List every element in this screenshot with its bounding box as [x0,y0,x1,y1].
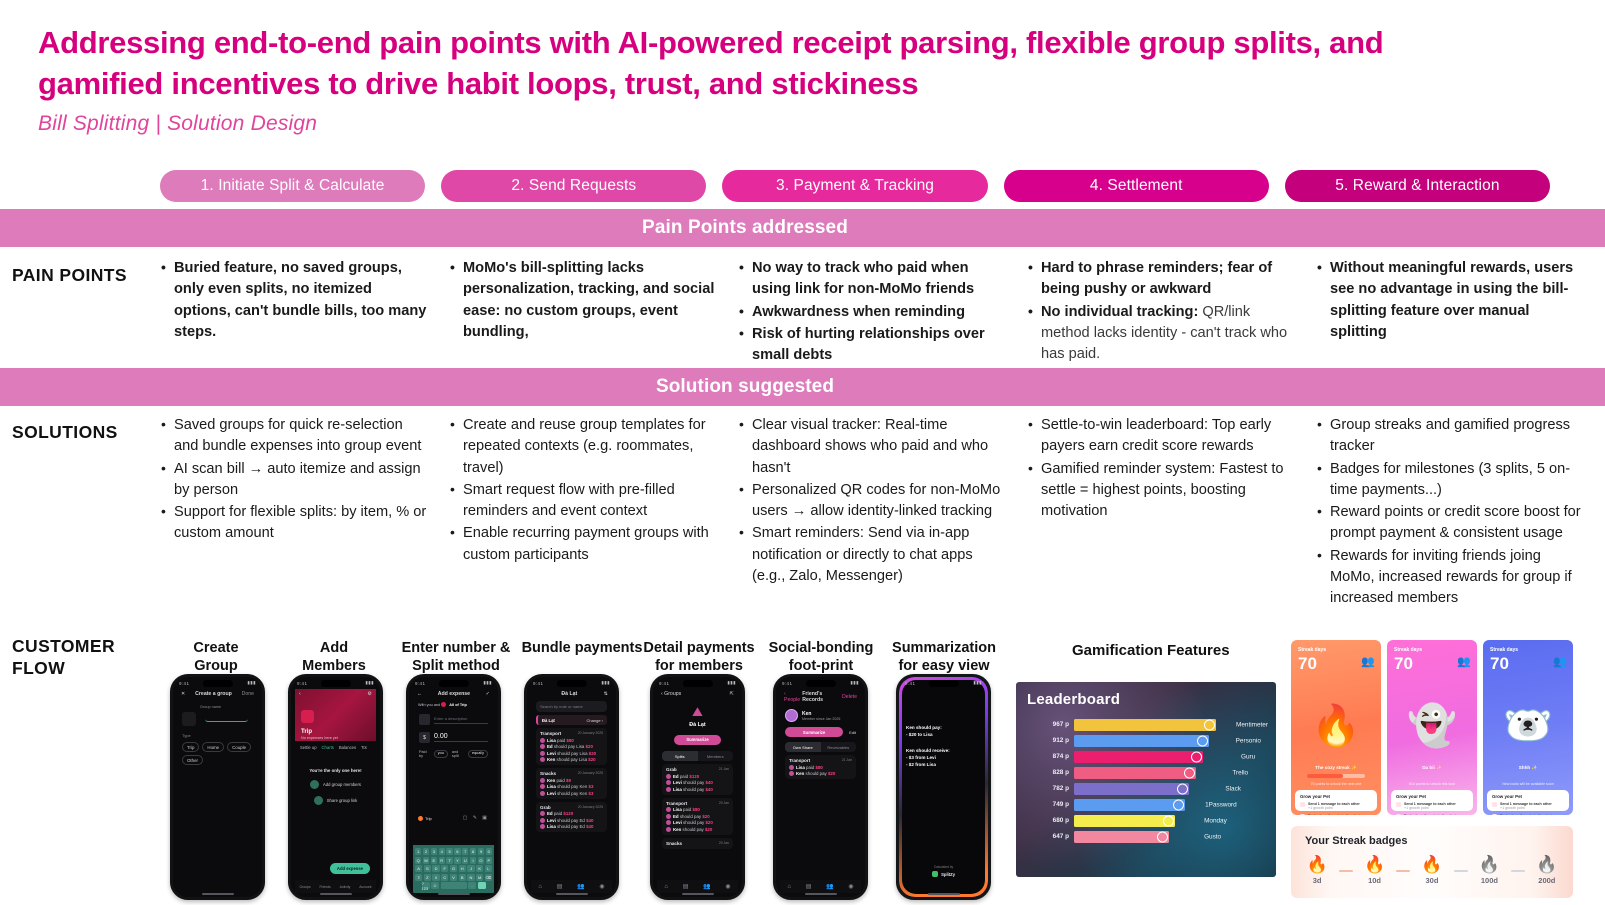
phone-statusbar: 9:41▮▮▮ [905,679,982,687]
expense-row: Ken should pay Lisa $20 [540,757,603,762]
expense-card[interactable]: Snacks20 Jan [662,838,733,849]
screen3-desc-row: Enter a description [419,714,488,725]
solution-item: Saved groups for quick re-selection and … [160,415,431,458]
expense-card-header: Snacks20 January 2025 [540,771,603,776]
phone-social-bonding[interactable]: 9:41▮▮▮ ‹ People Friend's Records Delete… [773,674,868,900]
task-check-icon [1396,814,1401,815]
screen2-action[interactable]: Add group members [295,780,376,789]
leaderboard-points: 680 p [1016,817,1074,824]
flame-icon: 🔥 [1479,856,1500,873]
flow-caption-line2: Group [160,658,272,676]
segment-tab-splits[interactable]: Splits [662,751,698,761]
expense-row: Ken should pay $20 [666,827,729,832]
screen6-tabbar[interactable]: ⌂ ▤ 👥 ◉ [780,880,861,893]
key-7[interactable]: 7 [462,848,468,855]
streak-days-value: 70 [1298,654,1317,674]
type-chip[interactable]: Other [182,755,203,765]
phone-create-group[interactable]: 9:41▮▮▮ ✕ Create a group Done Group name… [170,674,265,900]
key-S[interactable]: S [424,865,431,872]
pain-points-list: MoMo's bill-splitting lacks personalizat… [449,258,720,343]
flow-caption-summarization: Summarization for easy view [884,640,1004,675]
solution-item: Smart request flow with pre-filled remin… [449,480,720,523]
on-screen-keyboard[interactable]: 1234567890QWERTYUIOPASDFGHJKL⇧ZXCVBNM⌫?1… [413,845,494,894]
add-expense-button[interactable]: Add expense [330,863,370,874]
streak-card-1[interactable]: Streak days70👥🔥The cozy streak ✨70 point… [1291,640,1381,815]
stage-pill-4[interactable]: 4. Settlement [1004,170,1269,202]
leaderboard-bar: Slack [1074,783,1189,795]
expense-row: Ed paid $120 [540,811,603,816]
nav-tab-activity[interactable]: Activity [340,885,351,889]
leaderboard-avatar [1157,831,1168,842]
expense-row: Ed should pay Lisa $20 [540,744,603,749]
leaderboard-avatar [1191,751,1202,762]
key-A[interactable]: A [415,865,422,872]
screen4-toolbar: Đà Lạt ⇅ [531,689,612,699]
nav-home-icon[interactable]: ⌂ [787,884,791,890]
screen6-actions: Summarize Edit [785,727,856,737]
home-indicator [681,893,713,895]
screen2-actions: Add group membersShare group link [295,780,376,805]
pain-point-item: No individual tracking: QR/link method l… [1027,302,1298,366]
group-name-input[interactable] [205,713,248,722]
leaderboard-row: 647 pGusto [1016,830,1276,844]
image-icon[interactable] [182,712,196,726]
key-Q[interactable]: Q [415,857,421,864]
gear-icon[interactable]: ⚙ [367,691,372,697]
key-K[interactable]: K [476,865,483,872]
pain-point-item: Risk of hurting relationships over small… [738,324,1009,367]
screen5-tabbar[interactable]: ⌂ ▤ 👥 ◉ [657,880,738,893]
screen7-receive-block: Ken should receive: - $3 from Levi - $2 … [906,748,981,769]
nav-tab-groups[interactable]: Groups [299,885,310,889]
key-8[interactable]: 8 [470,848,476,855]
key-R[interactable]: R [439,857,445,864]
nav-group-icon[interactable]: 👥 [577,883,584,890]
done-button[interactable]: Done [242,691,254,697]
streak-task-label: Send 1 message to each other+1 growth po… [1404,802,1456,811]
key-⇧[interactable]: ⇧ [415,874,422,881]
paidby-token[interactable]: you [434,750,448,758]
segment-tab-receivables[interactable]: Receivables [821,742,857,752]
streak-task-label: Each share 2 posts in the chat+2 growth … [1500,814,1552,815]
pain-points-column-2: MoMo's bill-splitting lacks personalizat… [449,258,738,367]
streak-caption: Da bii ✨ [1387,765,1477,771]
stage-pill-5[interactable]: 5. Reward & Interaction [1285,170,1550,202]
back-icon[interactable]: ‹ [299,691,301,697]
expense-card[interactable]: Transport20 January 2025Lisa paid $80Ed … [536,728,607,765]
flow-caption-line1: Enter number & [392,640,520,658]
task-check-icon [1492,814,1497,815]
currency-icon: $ [419,732,430,743]
key-M[interactable]: M [476,874,483,881]
screen5-toolbar: ‹ Groups ⇱ [657,689,738,699]
solutions-list: Settle-to-win leaderboard: Top early pay… [1027,415,1298,522]
key-W[interactable]: W [423,857,429,864]
solution-item: Group streaks and gamified progress trac… [1316,415,1587,458]
leaderboard-avatar [1184,767,1195,778]
expense-row: Ed paid $120 [666,774,729,779]
nav-tab-account[interactable]: Account [359,885,371,889]
key-⌫[interactable]: ⌫ [485,874,492,881]
home-indicator [555,893,587,895]
streak-task: Each share 2 posts in the chat+2 growth … [1492,814,1564,815]
flow-caption-add-members: Add Members [278,640,390,675]
streak-sheet-title: Grow your Pet [1396,794,1468,799]
key-6[interactable]: 6 [454,848,460,855]
leaderboard-points: 874 p [1016,753,1074,760]
nav-list-icon[interactable]: ▤ [683,883,689,890]
screen4-sections: Transport20 January 2025Lisa paid $80Ed … [531,728,612,832]
nav-list-icon[interactable]: ▤ [557,883,563,890]
stage-pill-3[interactable]: 3. Payment & Tracking [722,170,987,202]
key-?123[interactable]: ?123 [422,882,430,889]
solution-item: Badges for milestones (3 splits, 5 on-ti… [1316,459,1587,502]
edit-button[interactable]: Edit [849,730,856,735]
key-O[interactable]: O [478,857,484,864]
nav-tab-friends[interactable]: Friends [319,885,330,889]
nav-home-icon[interactable]: ⌂ [664,884,668,890]
phone-add-expense[interactable]: 9:41▮▮▮ ← Add expense ✓ With you and All… [406,674,501,900]
phone-statusbar: 9:41▮▮▮ [659,679,736,687]
solution-item: AI scan bill → auto itemize and assign b… [160,459,431,502]
key-space[interactable] [441,882,467,889]
screen4-title: Đà Lạt [561,691,577,697]
badge-label: 100d [1479,876,1500,885]
home-indicator [804,893,836,895]
streak-days-label: Streak days [1298,647,1326,653]
phone-screen: ‹ Groups ⇱ ⛰ Đà Lạt Summarize SplitsMemb… [657,689,738,893]
sort-icon[interactable]: ⇅ [604,691,608,697]
pain-point-item: MoMo's bill-splitting lacks personalizat… [449,258,720,343]
streak-badge[interactable]: 🔥100d [1479,856,1500,885]
key-V[interactable]: V [450,874,457,881]
key-5[interactable]: 5 [446,848,452,855]
key-U[interactable]: U [462,857,468,864]
expense-name: Transport [789,758,810,763]
key-0[interactable]: 0 [486,848,492,855]
key-J[interactable]: J [467,865,474,872]
streak-cards: Streak days70👥🔥The cozy streak ✨70 point… [1291,640,1573,815]
expense-card[interactable]: Grab20 January 2025Ed paid $120Levi shou… [536,802,607,833]
streak-badge[interactable]: 🔥3d [1307,856,1328,885]
solutions-list: Group streaks and gamified progress trac… [1316,415,1587,610]
nav-group-icon[interactable]: 👥 [826,883,833,890]
streak-badges-panel: Your Streak badges 🔥3d🔥10d🔥30d🔥100d🔥200d [1291,826,1573,898]
flow-caption-line2: Split method [392,658,520,676]
screen7-receive-title: Ken should receive: [906,748,981,755]
home-indicator [437,893,469,895]
streak-badge[interactable]: 🔥200d [1536,856,1557,885]
streak-sheet-title: Grow your Pet [1492,794,1564,799]
expense-row: Lisa paid $80 [540,738,603,743]
screen4-tabbar[interactable]: ⌂ ▤ 👥 ◉ [531,880,612,893]
paidby-token[interactable]: and split [452,750,464,758]
screen5-tabs[interactable]: SplitsMembers [662,751,733,761]
streak-card-3[interactable]: Streak days70👥🐻‍❄️Shhh ✨New looks will b… [1483,640,1573,815]
streak-pet-icon: 👻 [1407,702,1457,749]
back-icon[interactable]: ‹ Groups [661,691,681,697]
type-chip[interactable]: Home [202,742,224,752]
task-check-icon [1300,802,1305,807]
phone-summarization[interactable]: 9:41▮▮▮ Ken should pay: - $20 to Lisa Ke… [896,674,991,900]
change-button[interactable]: Change › [587,718,603,723]
leaderboard-bar: Monday [1074,815,1175,827]
band-pain-points: Pain Points addressed [0,209,1605,247]
phone-add-members[interactable]: 9:41▮▮▮ ‹ ⚙ Trip No expenses here yet Se… [288,674,383,900]
amount-input[interactable]: 0.00 [434,733,488,742]
pain-point-item: Hard to phrase reminders; fear of being … [1027,258,1298,301]
screen2-action[interactable]: Share group link [295,796,376,805]
expense-card[interactable]: Snacks20 January 2025Ken paid $9Lisa sho… [536,768,607,799]
screen1-title: Create a group [195,691,232,697]
pain-points-column-4: Hard to phrase reminders; fear of being … [1027,258,1316,367]
streak-task: Send 1 message to each other+1 growth po… [1300,802,1372,811]
key-G[interactable]: G [450,865,457,872]
group-avatar [301,710,314,723]
back-icon[interactable]: ← [417,691,422,697]
screen3-amount-row: $ 0.00 [419,732,488,743]
expense-date: 20 January 2025 [578,805,603,810]
paidby-token[interactable]: Paid by [419,750,430,758]
expense-card-header: Transport20 January 2025 [540,731,603,736]
key-N[interactable]: N [467,874,474,881]
flow-caption-detail-payments: Detail payments for members [640,640,758,675]
home-indicator [319,893,351,895]
nav-list-icon[interactable]: ▤ [806,883,812,890]
home-indicator [927,893,959,895]
leaderboard-row: 828 pTrello [1016,766,1276,780]
phone-bundle-payments[interactable]: 9:41▮▮▮ Đà Lạt ⇅ Search by note or name … [524,674,619,900]
solutions-column-2: Create and reuse group templates for rep… [449,415,738,611]
screen7-receive-line: - $3 from Levi [906,755,981,762]
flow-caption-line1: Summarization [884,640,1004,658]
phone-detail-payments[interactable]: 9:41▮▮▮ ‹ Groups ⇱ ⛰ Đà Lạt Summarize Sp… [650,674,745,900]
summarize-button[interactable]: Summarize [785,727,843,737]
screen1-field-label: Group name [200,705,253,709]
screen7-receive-line: - $2 from Lisa [906,762,981,769]
streak-progress [1307,774,1365,778]
expense-row: Lisa paid $80 [666,807,729,812]
expense-name: Snacks [666,841,682,846]
flow-caption-create-group: Create Group [160,640,272,675]
screen7-footer-brand: SplitZy [941,872,955,877]
key-X[interactable]: X [432,874,439,881]
expense-row: Levi should pay Lisa $20 [540,751,603,756]
streak-task-sub: +1 growth point [1404,806,1456,810]
key-E[interactable]: E [431,857,437,864]
badge-label: 3d [1307,876,1328,885]
key-P[interactable]: P [486,857,492,864]
leaderboard-avatar [1197,735,1208,746]
flow-caption-social-bonding: Social-bonding foot-print [762,640,880,675]
leaderboard-panel: Leaderboard 967 pMentimeter912 pPersonio… [1016,682,1276,877]
expense-card[interactable]: Grab21 JanEd paid $120Levi should pay $4… [662,764,733,795]
screen3-title: Add expense [438,691,470,697]
leaderboard-points: 782 p [1016,785,1074,792]
streak-task-sheet: Grow your PetSend 1 message to each othe… [1487,790,1569,811]
row-label-solutions: SOLUTIONS [12,421,162,443]
solutions-list: Clear visual tracker: Real-time dashboar… [738,415,1009,587]
key-L[interactable]: L [485,865,492,872]
streak-task: Each share 2 posts in the chat+2 growth … [1396,814,1468,815]
solution-item: Rewards for inviting friends joing MoMo,… [1316,546,1587,610]
screen2-tabbar[interactable]: GroupsFriendsActivityAccount [295,880,376,893]
flow-caption-bundle-payments: Bundle payments [520,640,644,658]
leaderboard-points: 967 p [1016,721,1074,728]
key-⏎[interactable] [478,882,486,889]
nav-user-icon[interactable]: ◉ [599,883,604,890]
flow-caption-line1: Bundle payments [520,640,644,658]
pain-points-list: Buried feature, no saved groups, only ev… [160,258,431,343]
solution-item: Enable recurring payment groups with cus… [449,523,720,566]
pain-points-column-3: No way to track who paid when using link… [738,258,1027,367]
group-avatar-icon [441,702,446,707]
expense-name: Grab [666,767,677,772]
streak-avatars: 👥 [1457,655,1471,668]
pain-points-list: No way to track who paid when using link… [738,258,1009,366]
expense-card[interactable]: Transport21 JanLisa paid $80Ken should p… [785,755,856,779]
solutions-column-5: Group streaks and gamified progress trac… [1316,415,1605,611]
screen3-paidby-row[interactable]: Paid byyouand splitequally [419,750,488,758]
streak-sub: New looks will be available soon [1483,782,1573,786]
expense-date: 20 Jan [719,801,729,806]
nav-home-icon[interactable]: ⌂ [538,884,542,890]
badge-connector [1454,870,1468,872]
share-icon[interactable]: ⇱ [730,691,734,697]
expense-card[interactable]: Transport20 JanLisa paid $80Ed should pa… [662,798,733,835]
key-D[interactable]: D [432,865,439,872]
streak-days-label: Streak days [1490,647,1518,653]
paidby-token[interactable]: equally [468,750,488,758]
page-title: Addressing end-to-end pain points with A… [38,22,1498,104]
screen2-tabs: Settle upChartsBalancesTot [300,745,371,750]
keyboard-row: ?123☺. [415,882,492,889]
key-C[interactable]: C [441,874,448,881]
pain-point-item: Without meaningful rewards, users see no… [1316,258,1587,343]
nav-user-icon[interactable]: ◉ [725,883,730,890]
key-☺[interactable]: ☺ [431,882,439,889]
segment-tab-members[interactable]: Members [698,751,734,761]
key-3[interactable]: 3 [431,848,437,855]
pain-points-list: Without meaningful rewards, users see no… [1316,258,1587,343]
stage-pill-2[interactable]: 2. Send Requests [441,170,706,202]
expense-name: Transport [540,731,561,736]
action-icon [314,796,323,805]
streak-task-sub: +1 growth point [1500,806,1552,810]
streak-task-label: Each share 2 posts in the chat+2 growth … [1404,814,1456,815]
flame-icon: 🔥 [1364,856,1385,873]
key-Y[interactable]: Y [454,857,460,864]
segment-tab-own-share[interactable]: Own Share [785,742,821,752]
flame-icon: 🔥 [1421,856,1442,873]
flow-caption-line1: Add [278,640,390,658]
solution-item: Gamified reminder system: Fastest to set… [1027,459,1298,523]
screen2-tab[interactable]: Balances [339,745,356,750]
summarize-button[interactable]: Summarize [674,735,720,745]
leaderboard-name: Gusto [1204,833,1221,840]
key-Z[interactable]: Z [424,874,431,881]
description-input[interactable]: Enter a description [434,716,488,724]
leaderboard-name: Personio [1236,737,1261,744]
screen3-footer-group: Trip [425,816,432,821]
phone-screen: ‹ ⚙ Trip No expenses here yet Settle upC… [295,689,376,893]
pain-points-column-1: Buried feature, no saved groups, only ev… [160,258,449,367]
type-chip[interactable]: Trip [182,742,199,752]
leaderboard-points: 749 p [1016,801,1074,808]
key-1[interactable]: 1 [415,848,421,855]
screen5-sections: Grab21 JanEd paid $120Levi should pay $4… [657,764,738,849]
search-input[interactable]: Search by note or name [536,701,607,712]
screen6-tabs[interactable]: Own ShareReceivables [785,742,856,752]
key-4[interactable]: 4 [439,848,445,855]
leaderboard-row: 749 p1Password [1016,798,1276,812]
key-I[interactable]: I [470,857,476,864]
keyboard-row: QWERTYUIOP [415,857,492,864]
back-icon[interactable]: ‹ People [784,691,802,703]
badge-label: 10d [1364,876,1385,885]
phone-screen: ‹ People Friend's Records Delete Ken Mem… [780,689,861,893]
screen2-tab[interactable]: Settle up [300,745,317,750]
streak-badge[interactable]: 🔥10d [1364,856,1385,885]
pain-points-list: Hard to phrase reminders; fear of being … [1027,258,1298,365]
expense-card-header: Grab20 January 2025 [540,805,603,810]
delete-button[interactable]: Delete [842,694,857,700]
nav-group-icon[interactable]: 👥 [703,883,710,890]
screen2-tab[interactable]: Charts [322,745,334,750]
screen1-type-chips: TripHomeCoupleOther [182,742,253,765]
screen2-tab[interactable]: Tot [361,745,367,750]
leaderboard-avatar [1173,799,1184,810]
band-solutions: Solution suggested [0,368,1605,406]
key-.[interactable]: . [468,882,476,889]
expense-row: Ken should pay $20 [789,771,852,776]
key-9[interactable]: 9 [478,848,484,855]
streak-task-label: Send 1 message to each other+1 growth po… [1500,802,1552,811]
screen1-toolbar: ✕ Create a group Done [177,689,258,699]
stage-pill-1[interactable]: 1. Initiate Split & Calculate [160,170,425,202]
streak-card-2[interactable]: Streak days70👥👻Da bii ✨614 points to unl… [1387,640,1477,815]
customer-flow-area: Create Group Add Members Enter number & … [0,630,1605,905]
check-icon[interactable]: ✓ [486,691,490,697]
expense-row: Levi should pay $20 [666,820,729,825]
key-2[interactable]: 2 [423,848,429,855]
streak-badge[interactable]: 🔥30d [1421,856,1442,885]
key-F[interactable]: F [441,865,448,872]
key-T[interactable]: T [446,857,452,864]
screen4-group-chip[interactable]: Đà Lạt Change › [536,715,607,725]
solution-item: Personalized QR codes for non-MoMo users… [738,480,1009,523]
screen3-footer-icons[interactable]: ▢ ✎ ▣ [463,815,489,821]
leaderboard-avatar [1177,783,1188,794]
screen1-name-row: Group name [182,705,253,726]
streak-task: Send 1 message to each other+1 growth po… [1492,802,1564,811]
streak-badges-title: Your Streak badges [1305,835,1408,847]
screen7-pay-line: - $20 to Lisa [906,732,981,739]
screen1-type-label: Type [182,733,253,738]
close-icon[interactable]: ✕ [181,691,185,697]
key-B[interactable]: B [459,874,466,881]
leaderboard-row: 967 pMentimeter [1016,718,1276,732]
leaderboard-avatar [1163,815,1174,826]
streak-caption: The cozy streak ✨ [1291,765,1381,771]
key-H[interactable]: H [459,865,466,872]
nav-user-icon[interactable]: ◉ [848,883,853,890]
type-chip[interactable]: Couple [227,742,251,752]
leaderboard-bar: Gusto [1074,831,1169,843]
screen2-sub: No expenses here yet [301,736,376,740]
streak-task: Each share 2 posts in the chat+2 growth … [1300,814,1372,815]
phone-statusbar: 9:41▮▮▮ [782,679,859,687]
